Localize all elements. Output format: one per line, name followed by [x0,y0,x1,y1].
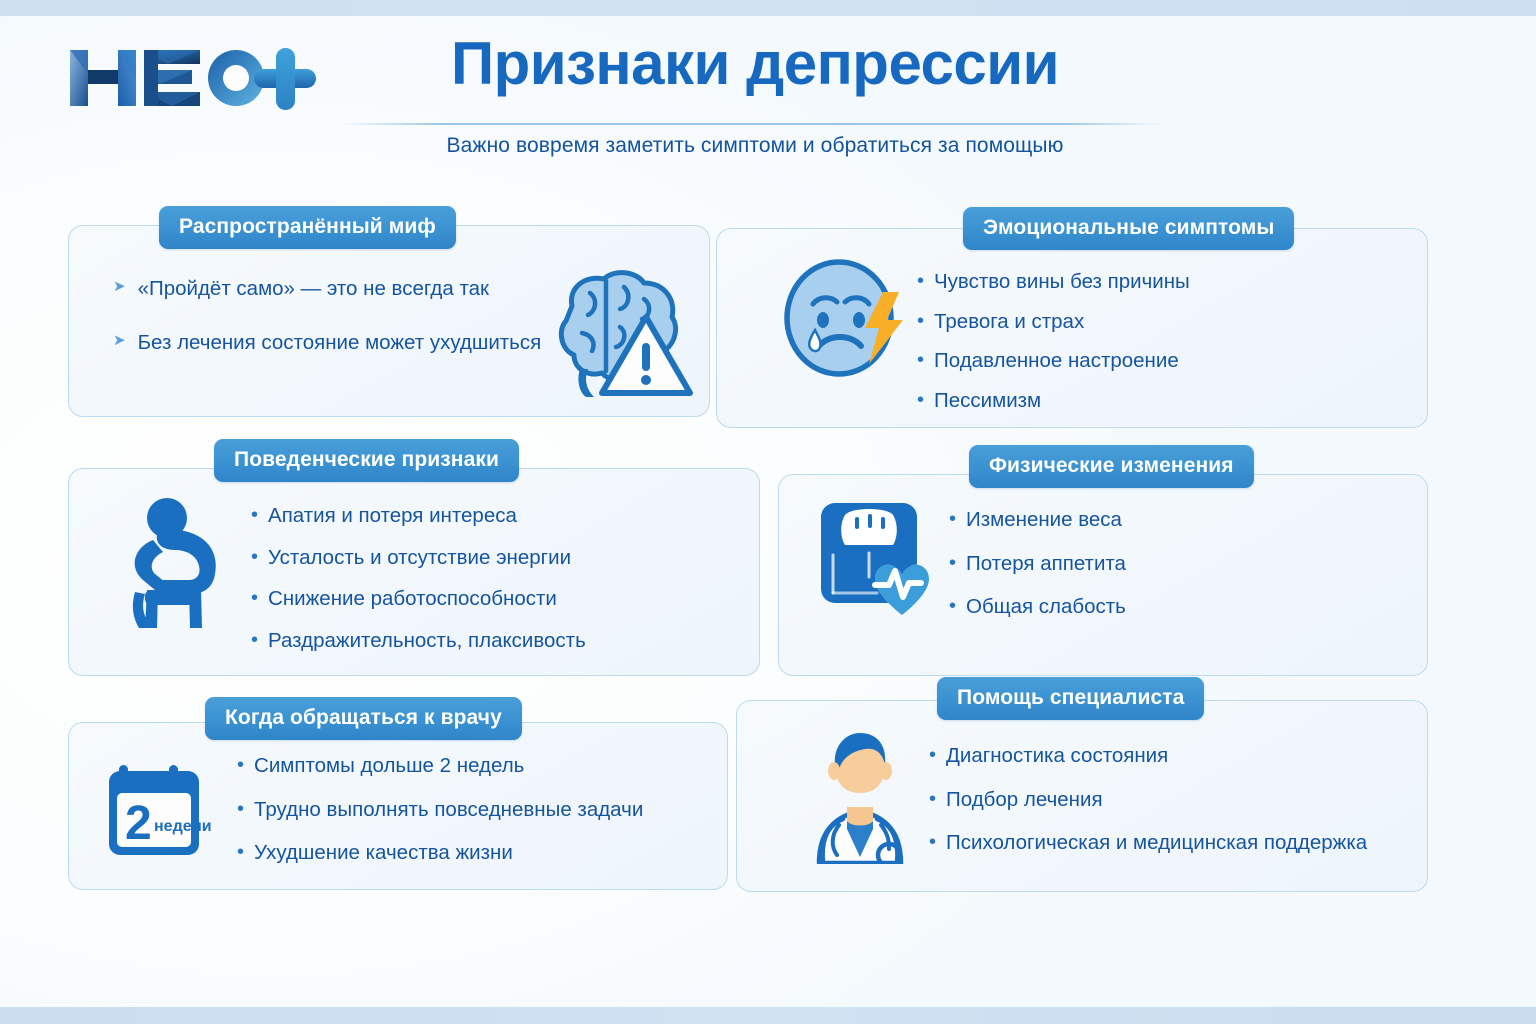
bullet-icon: • [251,503,258,528]
list-item-label: Симптомы дольше 2 недель [254,753,524,779]
list-item-label: Тревога и страх [934,309,1084,335]
card-physical: • Изменение веса • Потеря аппетита • Общ… [778,474,1428,676]
card-badge: Распространённый миф [159,206,456,249]
bullet-icon: • [917,309,924,334]
bullet-icon: • [929,743,936,768]
card-badge: Физические изменения [969,445,1254,488]
list-item-label: Раздражительность, плаксивость [268,628,586,654]
list-item-label: Трудно выполнять повседневные задачи [254,797,643,823]
list-item-label: Психологическая и медицинская поддержка [946,830,1367,856]
brain-warning-icon [524,261,694,406]
list-item-label: Подавленное настроение [934,348,1179,374]
list-item-label: «Пройдёт само» — это не всегда так [138,276,489,302]
doctor-icon [785,729,930,869]
list-item: • Симптомы дольше 2 недель [237,753,643,779]
card-when-to-see-doctor: 2 недели • Симптомы дольше 2 недель • Тр… [68,722,728,890]
list-item: • Психологическая и медицинская поддержк… [929,830,1367,856]
bullet-icon: • [251,628,258,653]
weight-scale-heart-icon [815,497,950,632]
calendar-number: 2 [125,797,152,850]
bullet-icon: • [237,753,244,778]
bullet-icon: • [237,840,244,865]
specialist-list: • Диагностика состояния • Подбор лечения… [929,743,1367,856]
list-item: • Потеря аппетита [949,551,1126,577]
list-item-label: Без лечения состояние может ухудшиться [138,330,542,356]
card-badge: Помощь специалиста [937,677,1204,720]
card-badge: Поведенческие признаки [214,439,519,482]
card-specialist-help: • Диагностика состояния • Подбор лечения… [736,700,1428,892]
list-item: • Диагностика состояния [929,743,1367,769]
list-item-label: Диагностика состояния [946,743,1168,769]
emotional-list: • Чувство вины без причины • Тревога и с… [917,269,1190,414]
bottom-band [0,1007,1536,1024]
brand-logo [68,40,318,118]
bullet-icon: • [917,269,924,294]
list-item-label: Снижение работоспособности [268,586,557,612]
list-item-label: Усталость и отсутствие энергии [268,545,571,571]
list-item: • Раздражительность, плаксивость [251,628,586,654]
calendar-unit: недели [154,818,212,835]
bullet-icon: • [917,388,924,413]
card-emotional: • Чувство вины без причины • Тревога и с… [716,228,1428,428]
list-item-label: Пессимизм [934,388,1041,414]
bullet-icon: • [917,348,924,373]
card-myth: ➤ «Пройдёт само» — это не всегда так ➤ Б… [68,225,710,417]
arrow-bullet-icon: ➤ [113,330,126,352]
calendar-icon: 2 недели [107,755,217,870]
page-subtitle: Важно вовремя заметить симптоми и обрати… [340,134,1170,158]
sad-face-lightning-icon [779,254,909,389]
list-item: • Чувство вины без причины [917,269,1190,295]
list-item-label: Потеря аппетита [966,551,1126,577]
physical-list: • Изменение веса • Потеря аппетита • Общ… [949,507,1126,620]
list-item: • Пессимизм [917,388,1190,414]
list-item: • Ухудшение качества жизни [237,840,643,866]
myth-list: ➤ «Пройдёт само» — это не всегда так ➤ Б… [113,276,541,355]
infographic-page: Признаки депрессии Важно вовремя заметит… [0,0,1536,1024]
bullet-icon: • [929,830,936,855]
list-item: • Подавленное настроение [917,348,1190,374]
bullet-icon: • [237,797,244,822]
list-item: • Изменение веса [949,507,1126,533]
title-divider [342,123,1162,125]
card-behavioral: • Апатия и потеря интереса • Усталость и… [68,468,760,676]
list-item: ➤ «Пройдёт само» — это не всегда так [113,276,541,302]
card-badge: Эмоциональные симптомы [963,207,1294,250]
list-item: • Общая слабость [949,594,1126,620]
list-item: • Тревога и страх [917,309,1190,335]
list-item-label: Изменение веса [966,507,1122,533]
list-item: • Подбор лечения [929,787,1367,813]
bullet-icon: • [949,594,956,619]
bullet-icon: • [949,507,956,532]
list-item-label: Чувство вины без причины [934,269,1190,295]
arrow-bullet-icon: ➤ [113,276,126,298]
sitting-person-icon [127,494,257,634]
page-title: Признаки депрессии [340,34,1170,94]
header: Признаки депрессии Важно вовремя заметит… [0,16,1536,186]
list-item: • Снижение работоспособности [251,586,586,612]
behavioral-list: • Апатия и потеря интереса • Усталость и… [251,503,586,654]
list-item-label: Подбор лечения [946,787,1103,813]
list-item: ➤ Без лечения состояние может ухудшиться [113,330,541,356]
bullet-icon: • [251,545,258,570]
top-band [0,0,1536,16]
list-item-label: Ухудшение качества жизни [254,840,513,866]
list-item: • Усталость и отсутствие энергии [251,545,586,571]
list-item-label: Апатия и потеря интереса [268,503,517,529]
bullet-icon: • [949,551,956,576]
list-item: • Трудно выполнять повседневные задачи [237,797,643,823]
when-list: • Симптомы дольше 2 недель • Трудно выпо… [237,753,643,866]
list-item-label: Общая слабость [966,594,1126,620]
card-badge: Когда обращаться к врачу [205,697,522,740]
list-item: • Апатия и потеря интереса [251,503,586,529]
bullet-icon: • [251,586,258,611]
bullet-icon: • [929,787,936,812]
